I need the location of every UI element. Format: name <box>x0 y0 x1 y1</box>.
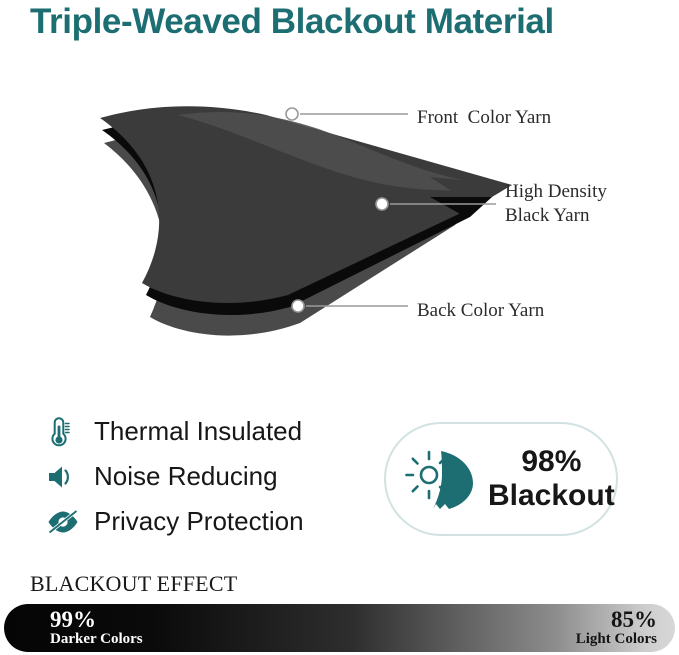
feature-item-privacy-protection: Privacy Protection <box>46 499 376 544</box>
right-caption: Light Colors <box>576 631 657 648</box>
right-percent: 85% <box>611 608 657 631</box>
eye-slash-icon <box>46 505 90 539</box>
sun-blocked-icon <box>402 437 486 521</box>
callout-back-color-yarn: Back Color Yarn <box>417 299 544 323</box>
blackout-badge-text: 98% Blackout <box>488 445 615 513</box>
feature-label: Noise Reducing <box>94 461 278 492</box>
left-caption: Darker Colors <box>50 631 204 648</box>
gradient-bar-left-stat: 99% Darker Colors <box>4 604 204 652</box>
blackout-caption: Blackout <box>488 479 615 512</box>
blackout-percent: 98% <box>521 445 581 478</box>
feature-item-thermal-insulated: Thermal Insulated <box>46 409 376 454</box>
left-percent: 99% <box>50 608 204 631</box>
thermometer-icon <box>46 415 90 449</box>
feature-label: Thermal Insulated <box>94 416 302 447</box>
blackout-badge: 98% Blackout <box>384 422 618 536</box>
product-feature-graphic: Triple-Weaved Blackout Material <box>0 0 679 655</box>
callout-line-front <box>286 108 408 120</box>
speaker-icon <box>46 460 90 494</box>
callout-high-density-black-yarn: High Density Black Yarn <box>505 180 607 229</box>
feature-item-noise-reducing: Noise Reducing <box>46 454 376 499</box>
page-title: Triple-Weaved Blackout Material <box>30 2 670 42</box>
blackout-effect-heading: BLACKOUT EFFECT <box>30 571 237 597</box>
callout-front-color-yarn: Front Color Yarn <box>417 106 551 130</box>
gradient-bar-right-stat: 85% Light Colors <box>455 604 675 652</box>
feature-label: Privacy Protection <box>94 506 304 537</box>
feature-list: Thermal Insulated Noise Reducing Pri <box>46 409 376 544</box>
